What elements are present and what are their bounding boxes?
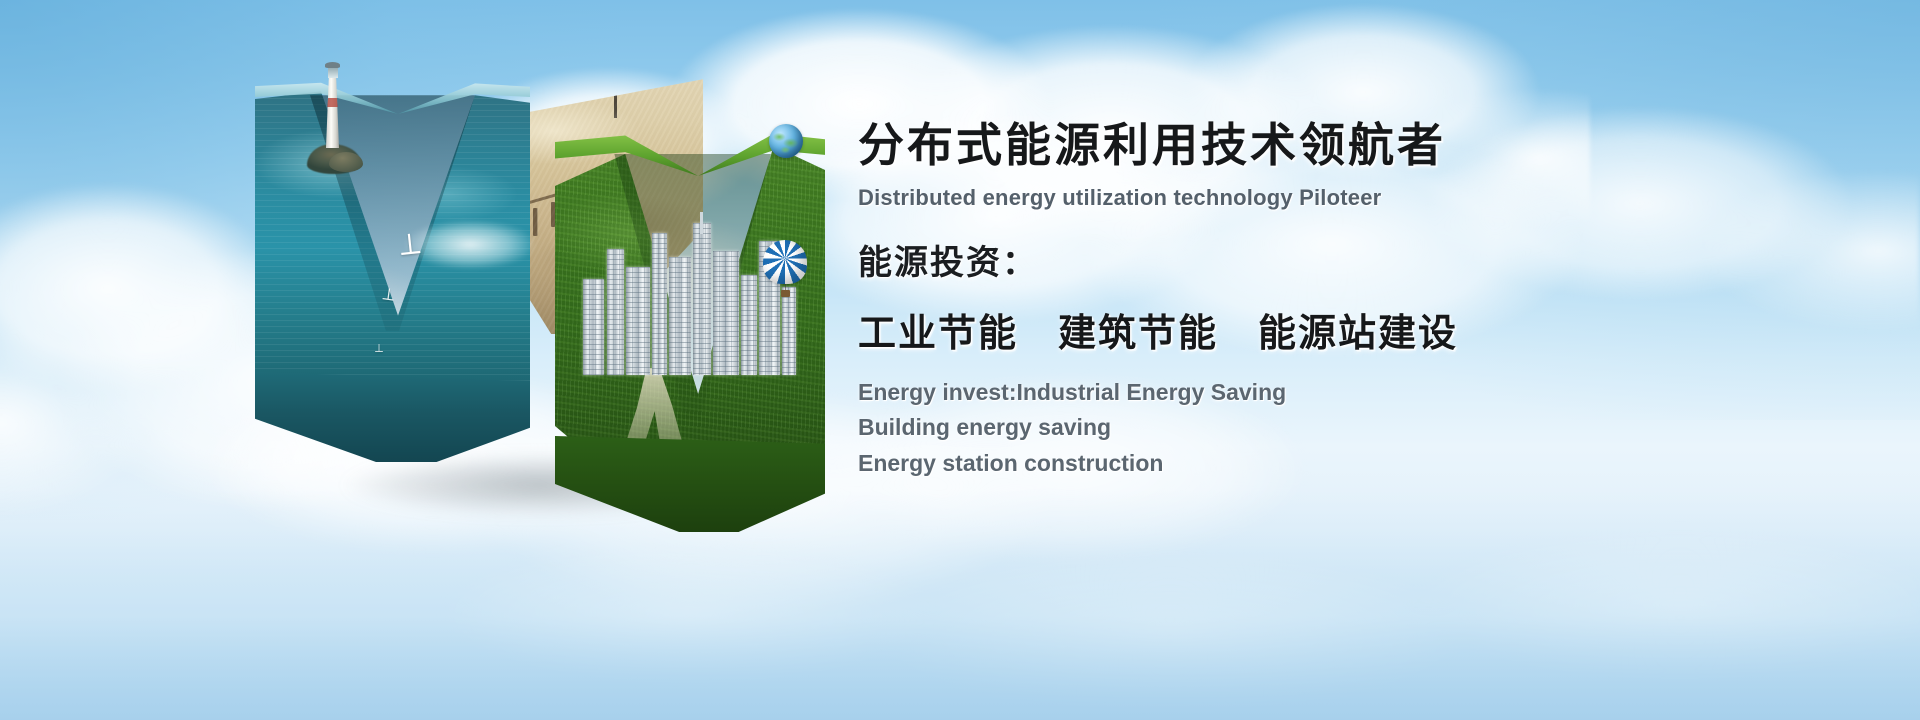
services-english-list: Energy invest:Industrial Energy Saving B… (858, 375, 1888, 482)
seagull-icon: ⟂ (398, 229, 421, 261)
lead-label-chinese: 能源投资： (858, 235, 1888, 284)
seagull-icon: ⟂ (382, 285, 396, 303)
landscape-w-artwork: 沙 ⟂ ⟂ ⟂ (255, 80, 825, 500)
hot-air-balloon-icon (763, 240, 807, 298)
services-chinese: 工业节能 建筑节能 能源站建设 (858, 302, 1888, 357)
ocean-base-slab (255, 372, 530, 462)
antenna-spire (700, 212, 703, 234)
grass-base-slab (555, 436, 825, 532)
grassland-segment (555, 130, 825, 530)
services-english-line-3: Energy station construction (858, 446, 1888, 482)
services-english-line-2: Building energy saving (858, 410, 1888, 446)
lighthouse-icon (313, 62, 353, 172)
headline-chinese: 分布式能源利用技术领航者 (858, 120, 1888, 171)
headline-english: Distributed energy utilization technolog… (858, 185, 1888, 211)
seagull-icon: ⟂ (375, 342, 383, 354)
signpost-icon (601, 74, 631, 118)
services-english-line-1: Energy invest:Industrial Energy Saving (858, 375, 1888, 411)
banner-copy: 分布式能源利用技术领航者 Distributed energy utilizat… (858, 120, 1888, 482)
ocean-segment: ⟂ ⟂ ⟂ (255, 80, 530, 460)
hero-banner: 沙 ⟂ ⟂ ⟂ (0, 0, 1920, 720)
globe-icon (769, 124, 803, 158)
